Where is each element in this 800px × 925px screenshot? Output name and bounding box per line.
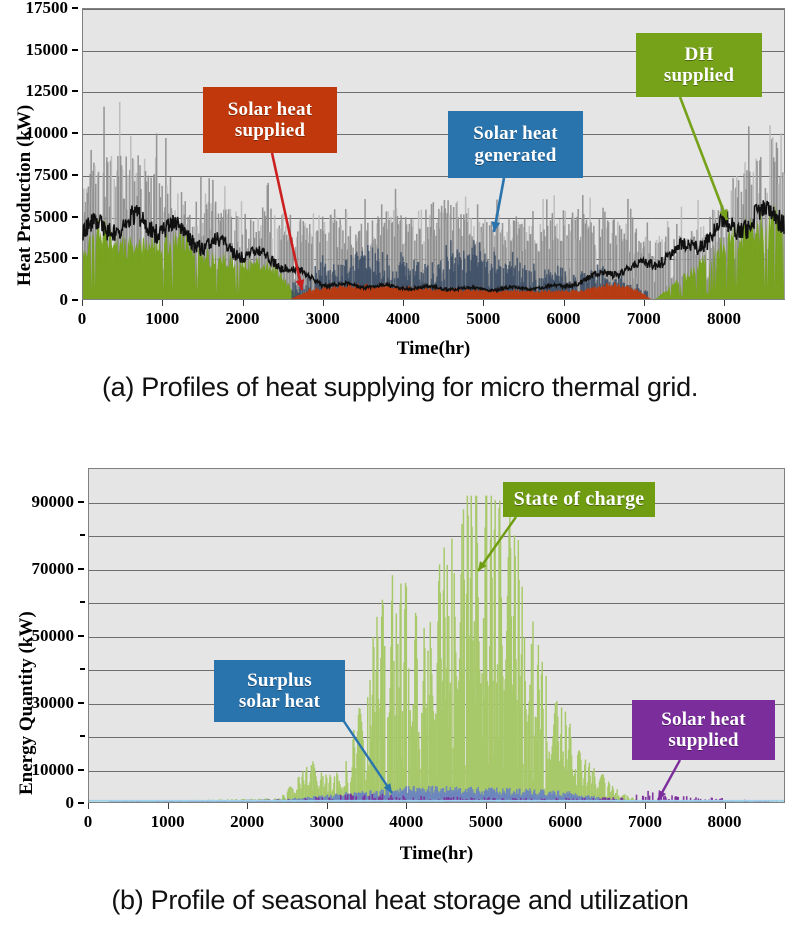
panel-a: 025005000750010000125001500017500 010002… (0, 0, 800, 380)
callout-line: solar heat (239, 691, 320, 712)
callout-dh-supplied-a: DH supplied (636, 33, 762, 97)
callout-line: supplied (235, 120, 305, 141)
callout-line: Solar heat (228, 99, 313, 120)
callout-surplus-solar-heat-b: Surplus solar heat (214, 660, 345, 722)
callout-solar-heat-generated-a: Solar heat generated (448, 111, 583, 178)
callout-line: Solar heat (473, 123, 558, 144)
callout-line: supplied (668, 730, 738, 751)
callout-arrow (341, 717, 392, 793)
figure-root: 025005000750010000125001500017500 010002… (0, 0, 800, 925)
callout-line: DH (685, 44, 714, 65)
callout-arrow-head (491, 221, 500, 232)
callout-arrows-b (0, 450, 800, 925)
callout-arrow (272, 153, 302, 290)
callout-solar-heat-supplied-a: Solar heat supplied (203, 87, 337, 153)
callout-solar-heat-supplied-b: Solar heat supplied (632, 700, 775, 760)
panel-b: 01000030000500007000090000 0100020003000… (0, 450, 800, 925)
callout-line: supplied (664, 65, 734, 86)
callout-line: Solar heat (661, 709, 746, 730)
callout-line: State of charge (514, 488, 645, 510)
callout-line: generated (475, 145, 557, 166)
callout-arrow-head (719, 209, 727, 220)
callout-state-of-charge-b: State of charge (503, 482, 655, 517)
callout-arrow (478, 517, 516, 571)
callout-arrow (680, 97, 727, 220)
callout-line: Surplus (247, 670, 312, 691)
